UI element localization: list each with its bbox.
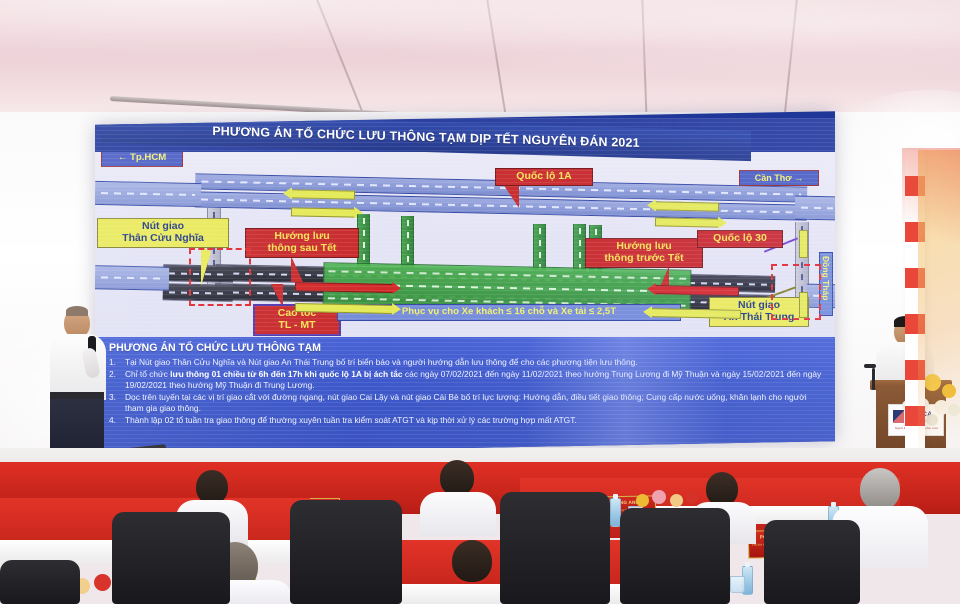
- callout-tail: [291, 256, 315, 282]
- arrow-flow-expressway-2: [651, 308, 741, 319]
- traffic-diagram: Nút giao Thân Cửu Nghĩa Hướng lưu thông …: [95, 152, 835, 337]
- sign-cantho: Cần Thơ →: [739, 170, 819, 186]
- chair: [500, 492, 610, 604]
- presenter-hair: [66, 306, 88, 316]
- arrow-ql1a-west: [291, 189, 355, 199]
- audience-head: [196, 470, 228, 504]
- chair: [764, 520, 860, 604]
- panel-item-text: Dọc trên tuyến tại các vị trí giao cắt v…: [125, 392, 825, 414]
- arrow-flow-before-tet: [655, 285, 739, 296]
- arrow-ql1a-east-2: [655, 217, 719, 227]
- red-drape: [902, 148, 960, 268]
- panel-item-number: 1.: [109, 357, 125, 368]
- slide-text-panel: PHƯƠNG ÁN TỔ CHỨC LƯU THÔNG TẠM 1. Tại N…: [95, 337, 835, 448]
- label-nut-giao-than-cuu-nghia: Nút giao Thân Cửu Nghĩa: [97, 218, 229, 248]
- highlight-box-than-cuu-nghia: [189, 248, 251, 306]
- panel-item-text: Chỉ tổ chức lưu thông 01 chiều từ 6h đến…: [125, 369, 825, 391]
- ql1a-approach-west: [95, 181, 201, 207]
- panel-item-3: 3. Dọc trên tuyến tại các vị trí giao cắ…: [109, 392, 825, 414]
- callout-huong-luu-thong-truoc-tet: Hướng lưu thông trước Tết: [585, 238, 703, 268]
- podium-mic-stand: [872, 368, 875, 390]
- panel-item-2: 2. Chỉ tổ chức lưu thông 01 chiều từ 6h …: [109, 369, 825, 391]
- panel-item-bold: lưu thông 01 chiều từ 6h đến 17h khi quố…: [170, 369, 402, 379]
- podium-microphone: [864, 364, 876, 368]
- label-dong-thap: Đồng Tháp: [819, 252, 833, 316]
- panel-item-pre: Chỉ tổ chức: [125, 369, 170, 379]
- audience-head-grey: [860, 468, 900, 510]
- label-ql1a: Quốc lộ 1A: [495, 168, 593, 186]
- chair: [0, 560, 80, 604]
- panel-item-number: 2.: [109, 369, 125, 391]
- panel-item-4: 4. Thành lập 02 tổ tuần tra giao thông đ…: [109, 415, 825, 426]
- conference-scene: Nút giao Thân Cửu Nghĩa Hướng lưu thông …: [0, 0, 960, 604]
- arrow-ql1a-east: [291, 207, 355, 217]
- sign-hcm: ← Tp.HCM: [101, 152, 183, 167]
- panel-item-number: 3.: [109, 392, 125, 414]
- chair: [290, 500, 402, 604]
- callout-huong-luu-thong-sau-tet: Hướng lưu thông sau Tết: [245, 228, 359, 258]
- audience-head: [706, 472, 738, 506]
- panel-heading: PHƯƠNG ÁN TỔ CHỨC LƯU THÔNG TẠM: [109, 342, 825, 354]
- arrow-ramp-up: [799, 230, 808, 258]
- callout-tail: [501, 184, 519, 208]
- slide-title: PHƯƠNG ÁN TỔ CHỨC LƯU THÔNG TẠM DỊP TẾT …: [212, 124, 639, 150]
- arrow-ql1a-west-2: [655, 201, 719, 211]
- chair: [112, 512, 230, 604]
- audience-head-front: [452, 540, 492, 582]
- panel-item-text: Thành lập 02 tổ tuần tra giao thông để t…: [125, 415, 825, 426]
- panel-item-number: 4.: [109, 415, 125, 426]
- expressway-approach-west: [95, 265, 169, 291]
- label-ql30: Quốc lộ 30: [697, 230, 783, 248]
- panel-item-text: Tại Nút giao Thân Cửu Nghĩa và Nút giao …: [125, 357, 825, 368]
- drinking-glass: [730, 576, 745, 593]
- highlight-box-an-thai-trung: [771, 264, 821, 320]
- audience-head: [440, 460, 474, 496]
- presentation-screen[interactable]: Nút giao Thân Cửu Nghĩa Hướng lưu thông …: [95, 111, 835, 455]
- audience-shirt: [420, 492, 496, 536]
- panel-item-1: 1. Tại Nút giao Thân Cửu Nghĩa và Nút gi…: [109, 357, 825, 368]
- ql1a-approach-east: [795, 196, 835, 221]
- presenter-belt: [50, 392, 104, 399]
- chair: [620, 508, 730, 604]
